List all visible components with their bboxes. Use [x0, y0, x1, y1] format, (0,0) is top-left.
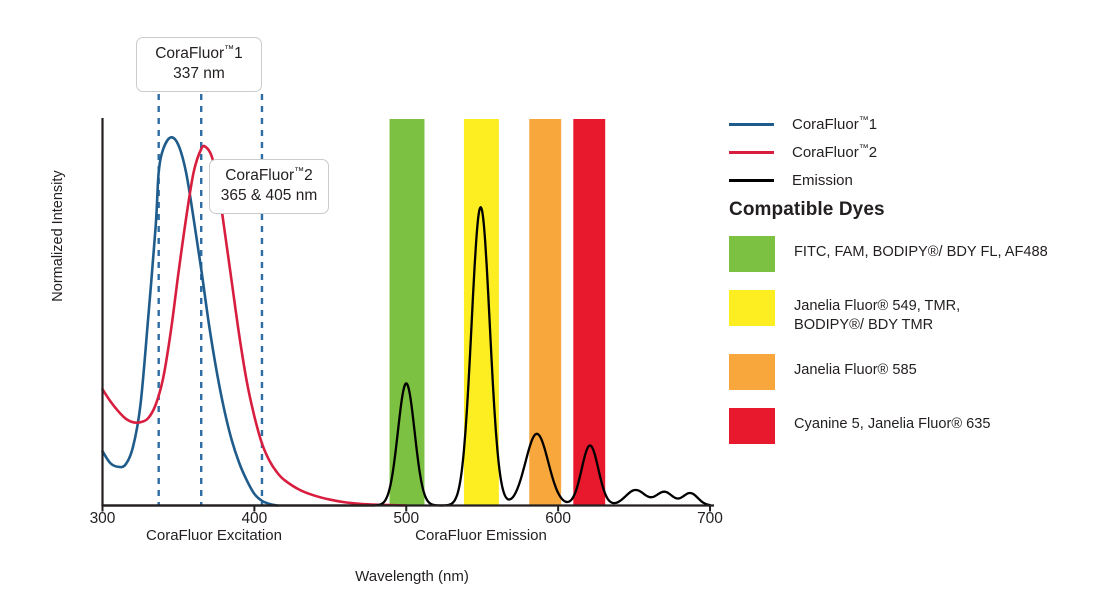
dye-label: Janelia Fluor® 585 [794, 354, 917, 380]
legend-item-label: CoraFluor™1 [792, 115, 877, 133]
legend-item-label: CoraFluor™2 [792, 143, 877, 161]
dye-row: Janelia Fluor® 585 [729, 354, 1104, 390]
callout-corafluor-2: CoraFluor™2 365 & 405 nm [209, 159, 329, 214]
dye-label: FITC, FAM, BODIPY®/ BDY FL, AF488 [794, 236, 1048, 262]
callout-1-line1: CoraFluor™1 [155, 45, 243, 62]
trademark-glyph: ™ [294, 166, 304, 177]
trademark-glyph: ™ [224, 44, 234, 55]
dye-color-swatch [729, 408, 775, 444]
x-axis-title: Wavelength (nm) [262, 568, 562, 585]
compatible-dyes-title: Compatible Dyes [729, 199, 885, 221]
x-tick-label-500: 500 [376, 510, 436, 528]
compatible-dyes-list: FITC, FAM, BODIPY®/ BDY FL, AF488Janelia… [729, 236, 1104, 462]
x-tick-label-300: 300 [73, 510, 133, 528]
chart-figure: Normalized Intensity CoraFluor™1 337 nm … [0, 0, 1110, 612]
dye-row: Cyanine 5, Janelia Fluor® 635 [729, 408, 1104, 444]
dye-color-swatch [729, 290, 775, 326]
series-legend: CoraFluor™1 CoraFluor™2 Emission [729, 110, 1099, 194]
trademark-glyph: ™ [859, 143, 869, 154]
legend-item: CoraFluor™1 [729, 110, 1099, 138]
dye-label: Cyanine 5, Janelia Fluor® 635 [794, 408, 991, 434]
callout-2-line2: 365 & 405 nm [220, 186, 318, 206]
legend-line-swatch [729, 123, 774, 126]
dye-row: Janelia Fluor® 549, TMR,BODIPY®/ BDY TMR [729, 290, 1104, 336]
dye-color-swatch [729, 236, 775, 272]
dye-label: Janelia Fluor® 549, TMR,BODIPY®/ BDY TMR [794, 290, 960, 336]
dye-row: FITC, FAM, BODIPY®/ BDY FL, AF488 [729, 236, 1104, 272]
y-axis-title: Normalized Intensity [50, 156, 66, 316]
trademark-glyph: ™ [859, 115, 869, 126]
callout-corafluor-1: CoraFluor™1 337 nm [136, 37, 262, 92]
excitation-region-label: CoraFluor Excitation [138, 527, 290, 544]
red-band [573, 119, 605, 506]
legend-item: CoraFluor™2 [729, 138, 1099, 166]
emission-region-label: CoraFluor Emission [405, 527, 557, 544]
green-band [390, 119, 425, 506]
dye-color-swatch [729, 354, 775, 390]
legend-item-label: Emission [792, 172, 853, 189]
legend-item: Emission [729, 166, 1099, 194]
callout-1-line2: 337 nm [147, 64, 251, 84]
x-tick-label-600: 600 [528, 510, 588, 528]
callout-2-line1: CoraFluor™2 [225, 167, 313, 184]
yellow-band [464, 119, 499, 506]
legend-line-swatch [729, 179, 774, 182]
x-tick-label-700: 700 [680, 510, 740, 528]
legend-line-swatch [729, 151, 774, 154]
x-tick-label-400: 400 [224, 510, 284, 528]
